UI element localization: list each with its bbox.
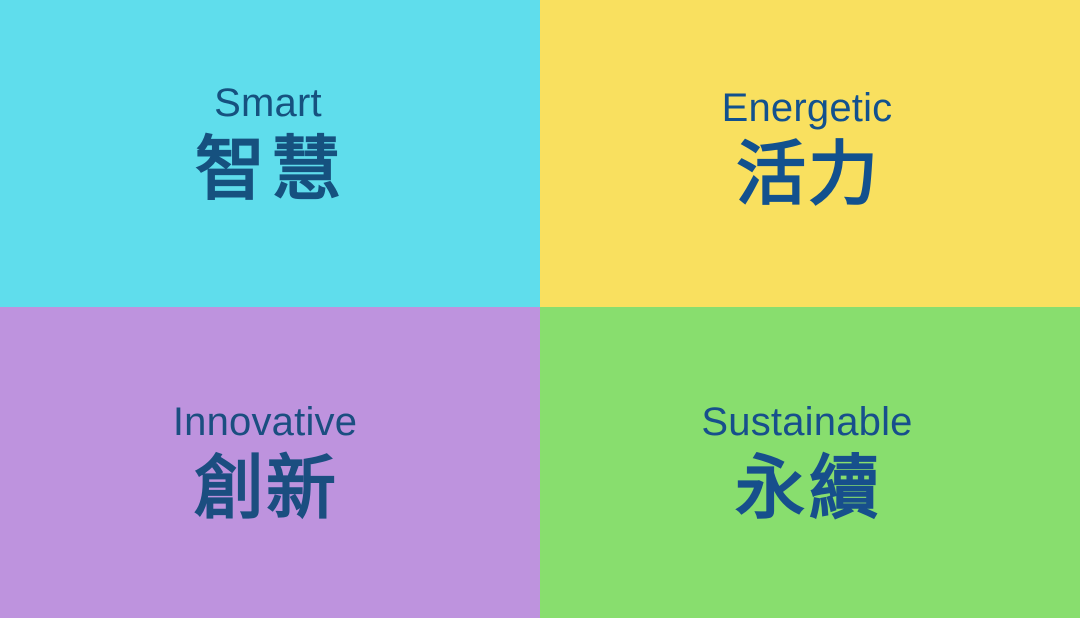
value-label-en-energetic: Energetic [722,87,893,129]
quadrant-energetic[interactable]: Energetic 活力 [540,0,1080,307]
value-label-en-innovative: Innovative [173,401,357,443]
value-label-cjk-energetic: 活力 [734,135,880,213]
value-grid: Smart 智慧 Energetic 活力 Innovative 創新 Sust… [0,0,1080,618]
label-stack-smart: Smart 智慧 [189,82,347,208]
value-label-en-sustainable: Sustainable [701,401,912,443]
label-stack-sustainable: Sustainable 永續 [701,401,912,527]
value-label-en-smart: Smart [214,82,322,124]
quadrant-smart[interactable]: Smart 智慧 [0,0,540,307]
value-label-cjk-sustainable: 永續 [731,449,883,527]
value-label-cjk-smart: 智慧 [189,130,347,208]
brand-values-canvas: Smart 智慧 Energetic 活力 Innovative 創新 Sust… [0,0,1080,618]
quadrant-sustainable[interactable]: Sustainable 永續 [540,307,1080,618]
quadrant-innovative[interactable]: Innovative 創新 [0,307,540,618]
label-stack-energetic: Energetic 活力 [722,87,893,213]
label-stack-innovative: Innovative 創新 [173,401,357,527]
value-label-cjk-innovative: 創新 [192,449,338,527]
